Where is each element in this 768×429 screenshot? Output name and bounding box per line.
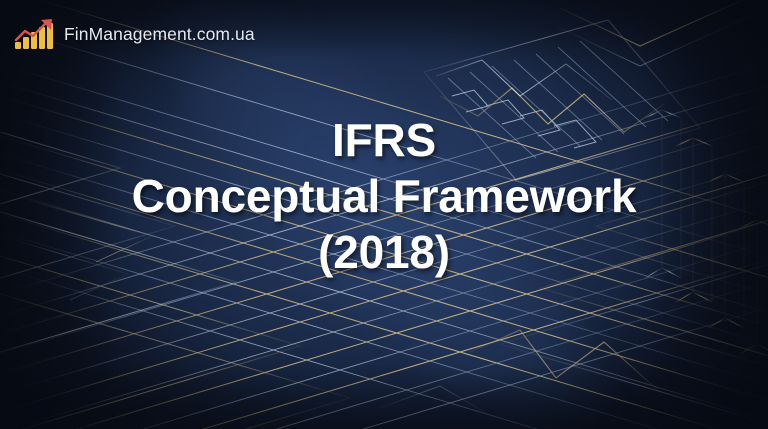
ifrs-title-banner: FinManagement.com.ua IFRS Conceptual Fra… [0,0,768,429]
logo-text: FinManagement.com.ua [64,24,255,45]
growth-bar-chart-arrow-icon [14,18,56,50]
page-title: IFRS Conceptual Framework (2018) [0,112,768,280]
title-line-1: IFRS [0,112,768,168]
title-line-3: (2018) [0,224,768,280]
site-logo[interactable]: FinManagement.com.ua [14,18,255,50]
title-line-2: Conceptual Framework [0,168,768,224]
